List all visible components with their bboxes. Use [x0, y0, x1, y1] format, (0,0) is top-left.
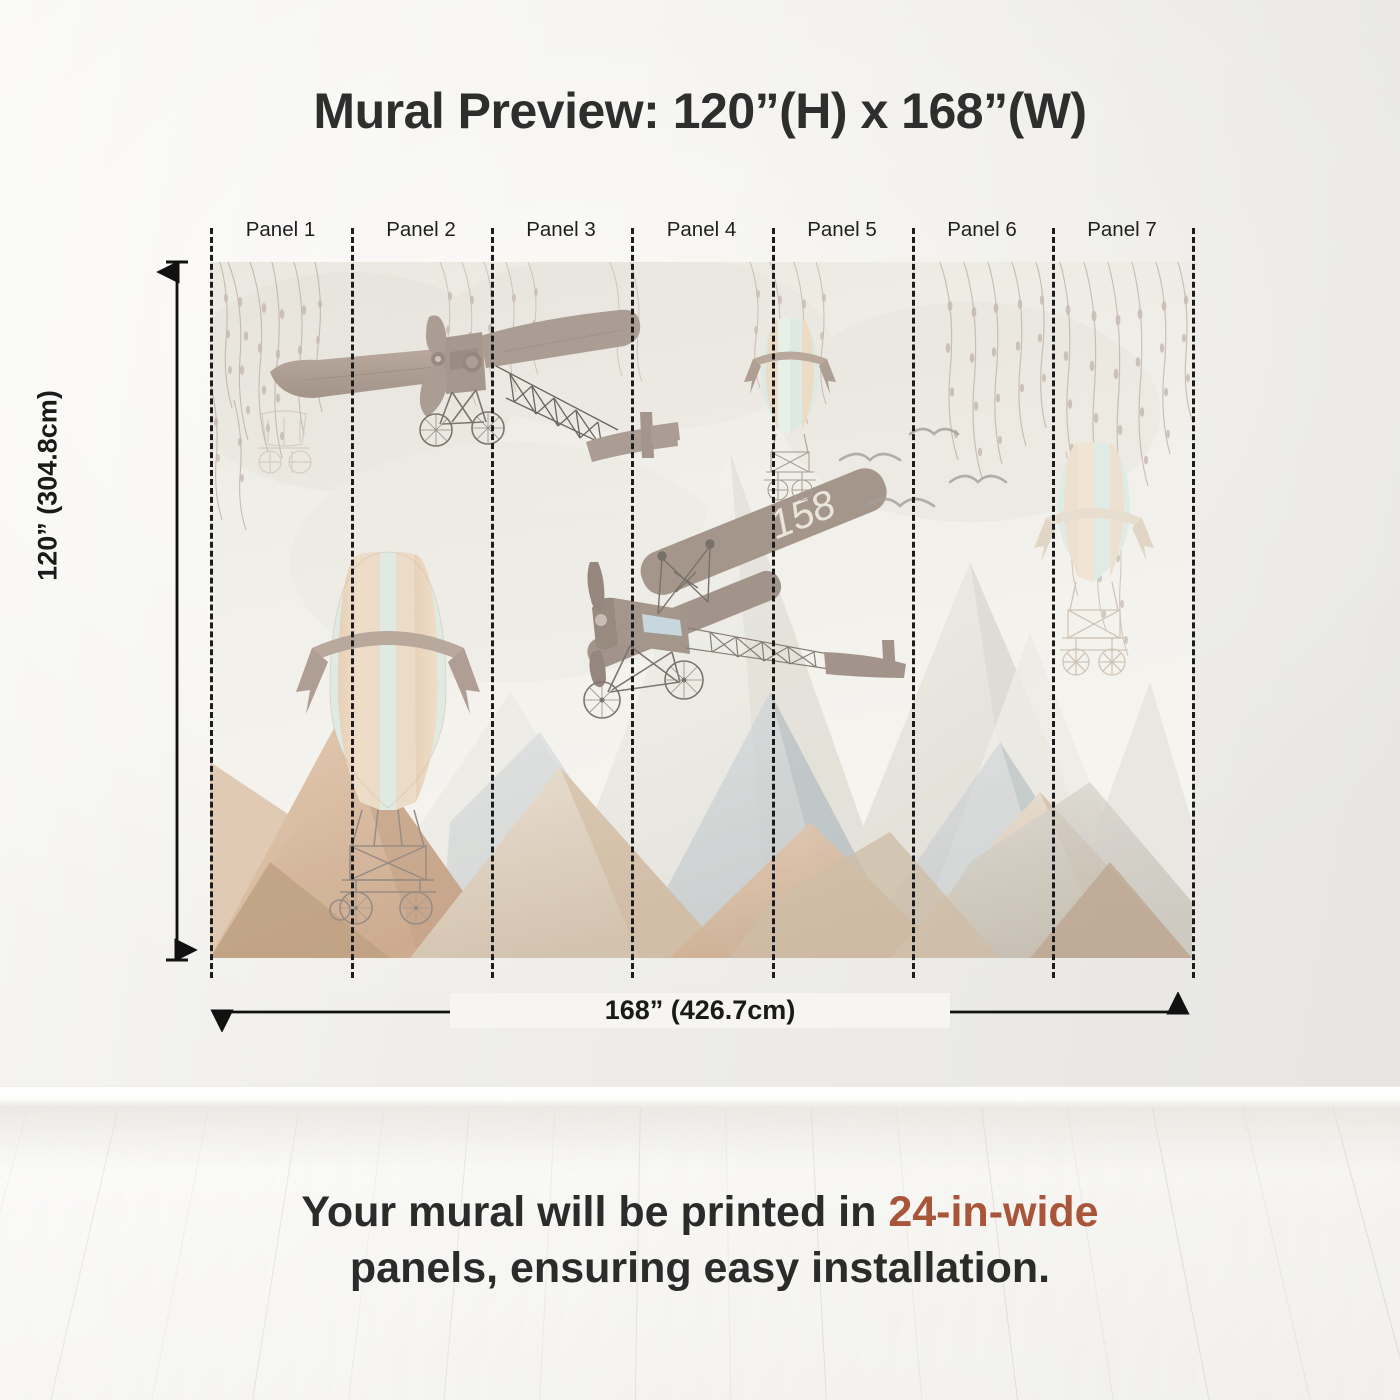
- mural-left-edge-dash: [210, 228, 213, 978]
- baseboard: [0, 1086, 1400, 1108]
- page-title: Mural Preview: 120”(H) x 168”(W): [0, 82, 1400, 140]
- panel-divider-5: [912, 228, 915, 978]
- width-dimension-label: 168” (426.7cm): [450, 993, 950, 1028]
- caption: Your mural will be printed in 24-in-wide…: [110, 1185, 1290, 1297]
- panel-divider-2: [491, 228, 494, 978]
- height-dimension-arrow: [152, 250, 202, 972]
- panel-divider-3: [631, 228, 634, 978]
- panel-divider-6: [1052, 228, 1055, 978]
- panel-label-7: Panel 7: [1052, 218, 1192, 242]
- mural-right-edge-dash: [1192, 228, 1195, 978]
- panel-divider-1: [351, 228, 354, 978]
- panel-label-6: Panel 6: [912, 218, 1052, 242]
- panel-label-3: Panel 3: [491, 218, 631, 242]
- panel-label-4: Panel 4: [631, 218, 772, 242]
- height-dimension-label: 120” (304.8cm): [33, 336, 64, 636]
- caption-accent: 24-in-wide: [888, 1188, 1098, 1236]
- panel-label-2: Panel 2: [351, 218, 491, 242]
- panel-divider-4: [772, 228, 775, 978]
- caption-line1-prefix: Your mural will be printed in: [301, 1188, 888, 1236]
- panel-label-1: Panel 1: [210, 218, 351, 242]
- mural-preview-image: 158: [210, 262, 1192, 958]
- caption-line2: panels, ensuring easy installation.: [350, 1244, 1050, 1292]
- panel-label-5: Panel 5: [772, 218, 912, 242]
